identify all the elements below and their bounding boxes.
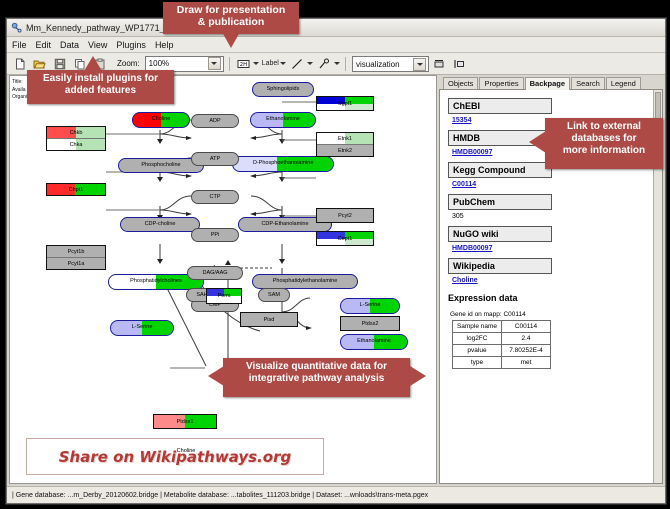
label-caret-icon[interactable]	[280, 62, 286, 65]
datanode-dropdown[interactable]: 2H	[235, 55, 259, 72]
node-label: CDP-Ethanolamine	[261, 222, 308, 228]
callout-draw-line1: Draw for presentation	[163, 4, 299, 16]
gene-group-pcyt1[interactable]: Pcyt1b Pcyt1a	[46, 245, 106, 270]
db-nugowiki-header: NuGO wiki	[448, 226, 552, 242]
node-label: L-Serine	[360, 303, 381, 309]
node-label: Cept1	[338, 236, 353, 242]
node-label: Sphingolipids	[267, 87, 300, 93]
anchor-caret-icon[interactable]	[334, 62, 340, 65]
callout-visualize-arrow-left-icon	[208, 366, 224, 386]
zoom-combo-arrow[interactable]	[208, 57, 221, 70]
callout-link-line3: more information	[545, 145, 663, 157]
db-pubchem-value: 305	[452, 213, 662, 220]
expr-val-log2fc: 2.4	[502, 333, 551, 345]
node-label: L-Serine	[132, 325, 153, 331]
expr-key-pvalue: pvalue	[453, 345, 502, 357]
callout-plugins-line1: Easily install plugins for	[27, 73, 174, 85]
status-bar: | Gene database: ...m_Derby_20120602.bri…	[7, 486, 665, 503]
expression-table: Sample name C00114 log2FC 2.4 pvalue 7.8…	[452, 320, 551, 369]
metabolite-l-serine-right[interactable]: L-Serine	[340, 298, 400, 314]
gene-pcyt1a[interactable]: Pcyt1a	[47, 258, 105, 269]
gene-pcyt2[interactable]: Pcyt2	[316, 208, 374, 223]
node-label: CDP-choline	[145, 222, 176, 228]
db-kegg-link[interactable]: C00114	[452, 181, 662, 188]
callout-link-line1: Link to external	[545, 121, 663, 133]
metabolite-choline-top[interactable]: Choline	[132, 112, 190, 128]
expr-key-type: type	[453, 357, 502, 369]
label-dropdown-label: Label	[262, 60, 279, 67]
expr-val-sample-name: C00114	[502, 321, 551, 333]
menu-item-help[interactable]: Help	[155, 40, 174, 50]
node-label: Sgpl1	[338, 101, 352, 107]
callout-visualize: Visualize quantitative data for integrat…	[223, 358, 410, 397]
node-label: Choline	[152, 117, 171, 123]
callout-link: Link to external databases for more info…	[545, 118, 663, 169]
gene-etnk1[interactable]: Etnk1	[317, 133, 373, 145]
visualization-value: visualization	[356, 60, 400, 69]
node-label: PPi	[211, 232, 220, 238]
toolbar-separator-2	[345, 57, 346, 71]
cofactor-sam[interactable]: SAM	[258, 288, 290, 302]
callout-draw: Draw for presentation & publication	[163, 2, 299, 34]
node-label: Etnk1	[338, 136, 352, 142]
callout-plugins: Easily install plugins for added feature…	[27, 70, 174, 104]
gene-ptdss2[interactable]: Ptdss2	[340, 316, 400, 331]
gene-sgpl1[interactable]: Sgpl1	[316, 96, 374, 111]
toolbar-separator	[229, 57, 230, 71]
callout-draw-arrow-icon	[222, 32, 240, 48]
expr-val-type: met	[502, 357, 551, 369]
node-label: Etnk2	[338, 148, 352, 154]
gene-pemt[interactable]: Pemt	[206, 288, 242, 304]
menu-item-data[interactable]: Data	[60, 40, 79, 50]
title-bar: Mm_Kennedy_pathway_WP1771_45176.gpml	[7, 19, 665, 37]
visualization-combo-arrow[interactable]	[413, 58, 426, 71]
node-label: Chpt1	[69, 187, 84, 193]
callout-link-line2: databases for	[545, 133, 663, 145]
gene-group-etnk[interactable]: Etnk1 Etnk2	[316, 132, 374, 157]
table-row: pvalue 7.80252E-4	[453, 345, 551, 357]
node-label: DAG/AAG	[202, 270, 227, 276]
metabolite-o-phosphoethanolamine[interactable]: O-Phosphoethanolamine	[232, 156, 334, 172]
label-dropdown[interactable]: Label	[262, 60, 286, 67]
callout-plugins-arrow-icon	[84, 56, 102, 71]
cofactor-atp[interactable]: ATP	[191, 152, 239, 166]
gene-etnk2[interactable]: Etnk2	[317, 145, 373, 156]
new-icon[interactable]	[11, 55, 28, 72]
metabolite-sphingolipids[interactable]: Sphingolipids	[252, 82, 314, 97]
expr-key-log2fc: log2FC	[453, 333, 502, 345]
side-panel-tabs[interactable]: Objects Properties Backpage Search Legen…	[439, 75, 663, 90]
node-label: Pemt	[218, 293, 231, 299]
cofactor-adp[interactable]: ADP	[191, 114, 239, 128]
gene-cept1[interactable]: Cept1	[316, 231, 374, 246]
db-nugowiki-link[interactable]: HMDB00097	[452, 245, 662, 252]
tab-search[interactable]: Search	[571, 77, 605, 89]
pathway-canvas[interactable]: Title: Availa Organi	[9, 75, 437, 484]
stack-icon[interactable]	[451, 55, 468, 72]
node-label: Chka	[70, 142, 83, 148]
callout-draw-line2: & publication	[163, 16, 299, 28]
menu-item-plugins[interactable]: Plugins	[116, 40, 146, 50]
expr-key-sample-name: Sample name	[453, 321, 502, 333]
metabolite-ethanolamine-top[interactable]: Ethanolamine	[250, 112, 316, 128]
tab-legend[interactable]: Legend	[606, 77, 641, 89]
expression-data-heading: Expression data	[448, 293, 662, 303]
gene-group-chk[interactable]: Chkb Chka	[46, 126, 106, 151]
db-kegg-header: Kegg Compound	[448, 162, 552, 178]
metabolite-l-serine-left[interactable]: L-Serine	[110, 320, 174, 336]
zoom-value: 100%	[149, 59, 169, 68]
metabolite-cdp-choline[interactable]: CDP-choline	[120, 217, 200, 232]
gene-pcyt1b[interactable]: Pcyt1b	[47, 246, 105, 258]
node-label: ADP	[209, 118, 220, 124]
menu-item-file[interactable]: File	[12, 40, 27, 50]
db-pubchem-header: PubChem	[448, 194, 552, 210]
node-label: Chkb	[70, 130, 83, 136]
line-dropdown[interactable]	[289, 55, 313, 72]
callout-visualize-line1: Visualize quantitative data for	[223, 361, 410, 373]
db-chebi-header: ChEBI	[448, 98, 552, 114]
pathvisio-icon	[11, 22, 22, 33]
menu-bar[interactable]: File Edit Data View Plugins Help	[7, 37, 665, 53]
metabolite-ethanolamine-bottom[interactable]: Ethanolamine	[340, 334, 408, 350]
node-label: Ethanolamine	[357, 339, 391, 345]
table-row: Sample name C00114	[453, 321, 551, 333]
datanode-caret-icon[interactable]	[253, 62, 259, 65]
gene-pisd[interactable]: Pisd	[240, 312, 298, 327]
table-row: type met	[453, 357, 551, 369]
tab-properties[interactable]: Properties	[479, 77, 523, 89]
node-label: Ptdss2	[362, 321, 379, 327]
anchor-icon[interactable]	[316, 55, 333, 72]
expression-gene-id: Gene id on mapp: C00114	[450, 311, 662, 318]
node-label: Choline	[177, 449, 196, 455]
cofactor-dagaag[interactable]: DAG/AAG	[187, 266, 243, 280]
node-label: Pcyt1a	[68, 261, 85, 267]
visualization-combo[interactable]: visualization	[352, 56, 429, 72]
zoom-label: Zoom:	[117, 59, 140, 68]
db-wikipedia-header: Wikipedia	[448, 258, 552, 274]
cofactor-ctp[interactable]: CTP	[191, 190, 239, 204]
node-label: SAM	[268, 292, 280, 298]
line-icon[interactable]	[289, 55, 306, 72]
gene-chka[interactable]: Chka	[47, 139, 105, 150]
receptor-dropdown[interactable]	[316, 55, 340, 72]
node-label: ATP	[210, 156, 220, 162]
node-label: Ptdss1	[177, 419, 194, 425]
tab-objects[interactable]: Objects	[443, 77, 478, 89]
tab-backpage[interactable]: Backpage	[525, 77, 570, 90]
share-banner-text: Share on Wikipathways.org	[59, 448, 291, 466]
db-wikipedia-link[interactable]: Choline	[452, 277, 662, 284]
node-label: CTP	[210, 194, 221, 200]
node-label: O-Phosphoethanolamine	[253, 161, 314, 167]
node-label: Phosphatidylcholines	[130, 279, 182, 285]
callout-visualize-line2: integrative pathway analysis	[223, 373, 410, 385]
menu-item-edit[interactable]: Edit	[36, 40, 52, 50]
gene-chkb[interactable]: Chkb	[47, 127, 105, 139]
line-caret-icon[interactable]	[307, 62, 313, 65]
share-banner: Share on Wikipathways.org	[26, 438, 324, 475]
callout-visualize-arrow-right-icon	[410, 366, 426, 386]
expr-val-pvalue: 7.80252E-4	[502, 345, 551, 357]
menu-item-view[interactable]: View	[88, 40, 107, 50]
node-label: Pcyt2	[338, 213, 352, 219]
metabolite-phosphatidylethanolamine[interactable]: Phosphatidylethanolamine	[252, 274, 358, 289]
node-label: Pcyt1b	[68, 249, 85, 255]
group-icon[interactable]	[431, 55, 448, 72]
svg-text:2H: 2H	[239, 62, 247, 68]
cofactor-ppi[interactable]: PPi	[191, 228, 239, 242]
callout-plugins-line2: added features	[27, 85, 174, 97]
datanode-icon[interactable]: 2H	[235, 55, 252, 72]
node-label: Pisd	[264, 317, 275, 323]
node-label: Phosphocholine	[141, 163, 180, 169]
table-row: log2FC 2.4	[453, 333, 551, 345]
status-text: | Gene database: ...m_Derby_20120602.bri…	[12, 492, 428, 499]
gene-ptdss1[interactable]: Ptdss1	[153, 414, 217, 429]
callout-link-arrow-icon	[529, 131, 546, 153]
node-label: Ethanolamine	[266, 117, 300, 123]
node-label: Phosphatidylethanolamine	[273, 279, 338, 285]
gene-chpt1[interactable]: Chpt1	[46, 183, 106, 196]
